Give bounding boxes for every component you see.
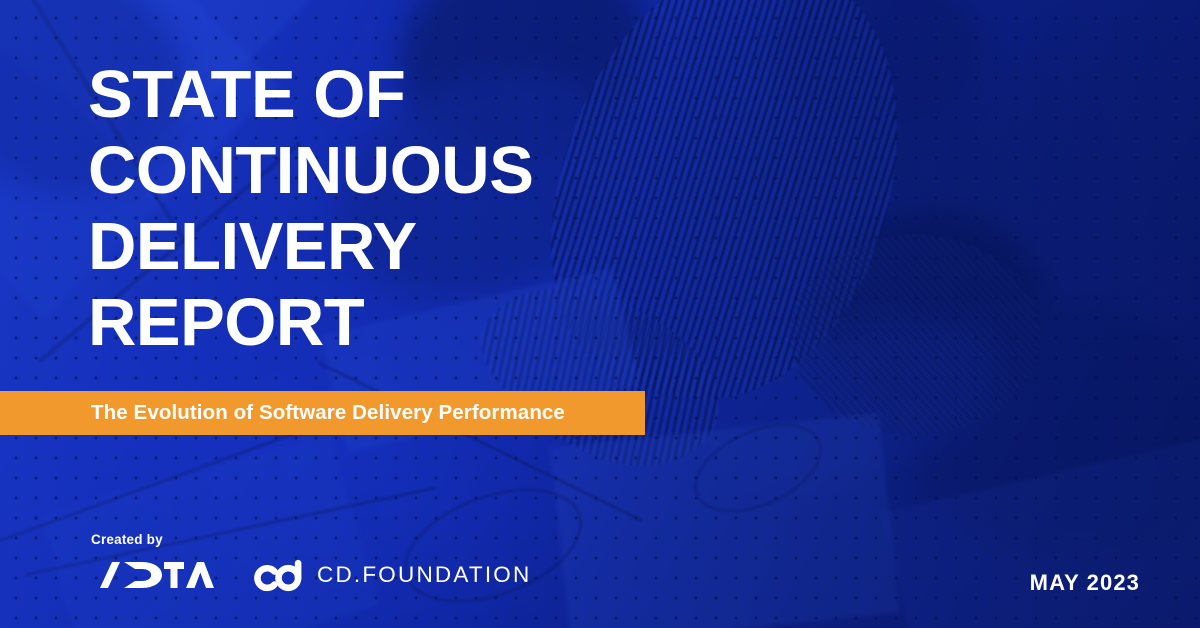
poster-content: STATE OF CONTINUOUS DELIVERY REPORT The … (0, 0, 1200, 628)
publication-date: MAY 2023 (1030, 570, 1140, 596)
poster-title: STATE OF CONTINUOUS DELIVERY REPORT (88, 57, 708, 361)
report-cover-poster: STATE OF CONTINUOUS DELIVERY REPORT The … (0, 0, 1200, 628)
cdfoundation-wordmark: CD.FOUNDATION (317, 564, 531, 587)
cd-mark-icon (252, 557, 308, 593)
subtitle-banner: The Evolution of Software Delivery Perfo… (0, 391, 645, 435)
created-by-label: Created by (91, 532, 163, 547)
subtitle-banner-text: The Evolution of Software Delivery Perfo… (0, 401, 565, 425)
credit-logos: CD.FOUNDATION (88, 557, 531, 593)
slashdata-logo[interactable] (88, 559, 214, 591)
cdfoundation-logo[interactable]: CD.FOUNDATION (252, 557, 531, 593)
